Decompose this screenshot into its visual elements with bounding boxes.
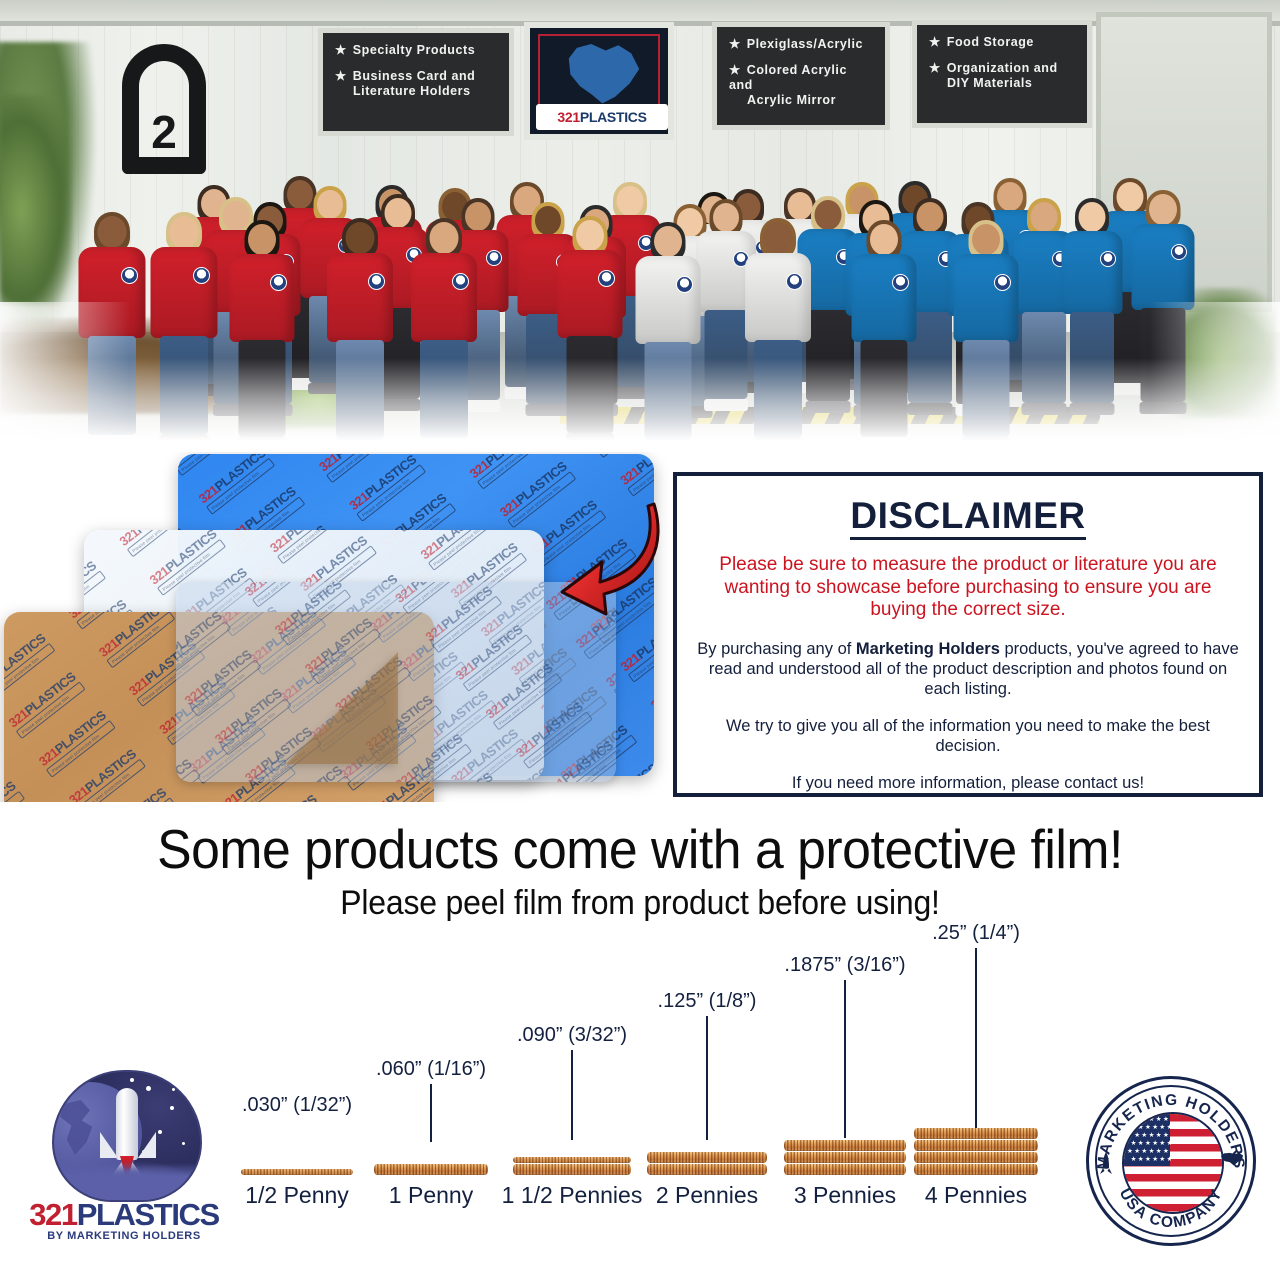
watermark-logo: 321PLASTICS xyxy=(398,799,434,802)
head xyxy=(576,220,604,251)
shirt xyxy=(230,254,295,342)
watermark-note: Please peel protective film xyxy=(627,454,654,497)
head xyxy=(430,222,459,254)
watermark-note: Please peel protective film xyxy=(553,750,616,782)
penny-count-label: 1 Penny xyxy=(389,1182,473,1208)
watermark-logo: 321PLASTICS xyxy=(178,454,237,467)
watermark-note: Please peel protective film xyxy=(176,621,231,678)
leader-line xyxy=(975,948,977,1136)
badge-top-arc: MARKETING HOLDERS xyxy=(1095,1092,1248,1170)
watermark-tag: 321PLASTICSPlease peel protective film xyxy=(4,779,25,802)
watermark-tag: 321PLASTICSPlease peel protective film xyxy=(453,623,532,692)
star-icon xyxy=(182,1142,185,1145)
penny-coin-half xyxy=(513,1157,631,1163)
watermark-tag: 321PLASTICSPlease peel protective film xyxy=(176,609,231,678)
watermark-logo: 321PLASTICS xyxy=(97,786,168,802)
head xyxy=(815,200,842,230)
penny-stack xyxy=(647,1152,767,1176)
watermark-tag: 321PLASTICSPlease peel protective film xyxy=(176,757,201,782)
leader-line xyxy=(706,1016,708,1140)
watermark-logo: 321PLASTICS xyxy=(453,623,524,683)
watermark-logo: 321PLASTICS xyxy=(268,530,339,555)
disclaimer-paragraph-4: If you need more information, please con… xyxy=(695,773,1241,793)
watermark-logo: 321PLASTICS xyxy=(514,700,585,760)
penny-count-label: 2 Pennies xyxy=(656,1182,758,1208)
watermark-tag: 321PLASTICSPlease peel protective film xyxy=(272,582,351,646)
head xyxy=(917,202,944,232)
watermark-tag: 321PLASTICSPlease peel protective film xyxy=(4,631,55,700)
shirt-logo-icon xyxy=(193,267,210,284)
watermark-note: Please peel protective film xyxy=(4,791,25,802)
watermark-note: Please peel protective film xyxy=(476,454,546,490)
penny-coin xyxy=(513,1164,631,1175)
watermark-note: Please peel protective film xyxy=(427,530,497,571)
penny-coin xyxy=(914,1128,1038,1139)
watermark-note: Please peel protective film xyxy=(402,743,472,782)
watermark-tag: 321PLASTICSPlease peel protective film xyxy=(97,612,176,669)
shirt-logo-icon xyxy=(676,276,693,293)
watermark-row: 321PLASTICSPlease peel protective film32… xyxy=(213,594,616,782)
watermark-tag: 321PLASTICSPlease peel protective film xyxy=(618,454,654,497)
rocket-scene-icon xyxy=(52,1070,202,1202)
disclaimer-heading: DISCLAIMER xyxy=(850,496,1085,540)
star-icon xyxy=(158,1130,162,1134)
logo-marketing-holders: ★★★★★★★★★★★★★★★★★★★★★★★★★★★★★★★★★★★★ MAR… xyxy=(1086,1076,1256,1246)
wordmark-prefix: 321 xyxy=(29,1197,77,1232)
logo-321-wordmark: 321PLASTICS xyxy=(28,1198,220,1232)
penny-stack xyxy=(914,1128,1038,1176)
watermark-logo: 321PLASTICS xyxy=(182,648,253,708)
watermark-logo: 321PLASTICS xyxy=(6,670,77,730)
photo-left-fade xyxy=(0,302,130,452)
head xyxy=(972,224,1000,255)
head xyxy=(713,203,739,232)
penny-coin xyxy=(914,1140,1038,1151)
shirt xyxy=(745,253,811,342)
watermark-note: Please peel protective film xyxy=(76,759,146,802)
watermark-tag: 321PLASTICSPlease peel protective film xyxy=(178,454,245,477)
head xyxy=(654,226,682,257)
watermark-logo: 321PLASTICS xyxy=(176,609,224,669)
penny-count-label: 4 Pennies xyxy=(925,1182,1027,1208)
watermark-logo: 321PLASTICS xyxy=(316,454,387,474)
penny-thickness-label: .030” (1/32”) xyxy=(242,1094,352,1116)
p2-brand: Marketing Holders xyxy=(856,640,1000,658)
shirt-logo-icon xyxy=(994,274,1011,291)
watermark-note: Please peel protective film xyxy=(126,530,196,558)
watermark-logo: 321PLASTICS xyxy=(196,454,267,506)
head xyxy=(1079,202,1106,232)
watermark-note: Please peel protective film xyxy=(178,454,245,477)
shirt-logo-icon xyxy=(452,273,469,290)
leader-line xyxy=(430,1084,432,1142)
watermark-tag: 321PLASTICSPlease peel protective film xyxy=(604,629,616,698)
watermark-note: Please peel protective film xyxy=(597,454,654,458)
head xyxy=(248,224,276,255)
watermark-logo: 321PLASTICS xyxy=(393,582,464,605)
watermark-logo: 321PLASTICS xyxy=(37,708,108,768)
logo-321-byline: BY MARKETING HOLDERS xyxy=(28,1230,220,1242)
watermark-logo: 321PLASTICS xyxy=(423,584,494,644)
shirt-logo-icon xyxy=(1100,251,1116,267)
shirt xyxy=(636,256,701,344)
shirt xyxy=(1062,231,1123,314)
disclaimer-paragraph-2: By purchasing any of Marketing Holders p… xyxy=(695,639,1241,699)
watermark-logo: 321PLASTICS xyxy=(648,653,654,713)
peeled-corner-fold xyxy=(286,652,398,764)
penny-coin xyxy=(647,1164,767,1175)
star-icon xyxy=(170,1106,174,1110)
watermark-logo: 321PLASTICS xyxy=(467,454,538,481)
penny-stack xyxy=(374,1164,488,1176)
star-icon xyxy=(146,1086,151,1091)
head xyxy=(98,216,127,248)
watermark-note: Please peel protective film xyxy=(282,775,352,782)
watermark-note: Please peel protective film xyxy=(106,612,176,669)
watermark-logo: 321PLASTICS xyxy=(618,614,654,674)
watermark-logo: 321PLASTICS xyxy=(247,792,318,802)
watermark-tag: 321PLASTICSPlease peel protective film xyxy=(182,648,261,717)
watermark-note: Please peel protective film xyxy=(46,720,116,777)
watermark-row: 321PLASTICSPlease peel protective film32… xyxy=(158,782,434,802)
head xyxy=(317,190,343,219)
watermark-note: Please peel protective film xyxy=(326,454,396,483)
watermark-tag: 321PLASTICSPlease peel protective film xyxy=(618,614,654,683)
watermark-logo: 321PLASTICS xyxy=(483,661,554,721)
leader-line xyxy=(571,1050,573,1140)
star-icon xyxy=(172,1088,175,1091)
watermark-note: Please peel protective film xyxy=(432,596,502,653)
watermark-logo: 321PLASTICS xyxy=(84,559,98,619)
penny-thickness-label: .125” (1/8”) xyxy=(658,990,757,1012)
watermark-tag: 321PLASTICSPlease peel protective film xyxy=(423,770,502,782)
watermark-logo: 321PLASTICS xyxy=(574,777,616,782)
penny-coin xyxy=(914,1152,1038,1163)
watermark-tag: 321PLASTICSPlease peel protective film xyxy=(212,686,291,755)
watermark-logo: 321PLASTICS xyxy=(117,530,188,548)
headline-block: Some products come with a protective fil… xyxy=(0,818,1280,924)
watermark-tag: 321PLASTICSPlease peel protective film xyxy=(393,732,472,782)
watermark-tag: 321PLASTICSPlease peel protective film xyxy=(423,584,502,653)
penny-thickness-label: .25” (1/4”) xyxy=(932,922,1020,944)
logo-321plastics: 321PLASTICS BY MARKETING HOLDERS xyxy=(28,1070,220,1250)
watermark-row: 321PLASTICSPlease peel protective film32… xyxy=(183,582,616,782)
watermark-tag: 321PLASTICSPlease peel protective film xyxy=(6,670,85,739)
disclaimer-paragraph-3: We try to give you all of the informatio… xyxy=(695,716,1241,756)
penny-stack xyxy=(513,1157,631,1176)
watermark-note: Please peel protective film xyxy=(4,643,55,700)
watermark-note: Please peel protective film xyxy=(397,530,467,532)
watermark-tag: 321PLASTICSPlease peel protective film xyxy=(398,799,434,802)
watermark-tag: 321PLASTICSPlease peel protective film xyxy=(273,764,352,782)
watermark-tag: 321PLASTICSPlease peel protective film xyxy=(66,612,145,630)
headline-main: Some products come with a protective fil… xyxy=(38,818,1241,880)
rocket-icon xyxy=(116,1088,138,1160)
watermark-note: Please peel protective film xyxy=(205,458,275,515)
watermark-note: Please peel protective film xyxy=(402,582,472,615)
badge-arc-text: MARKETING HOLDERS USA COMPANY xyxy=(1086,1076,1256,1246)
cloud-band xyxy=(54,1160,200,1200)
shirt xyxy=(327,253,393,342)
watermark-tag: 321PLASTICSPlease peel protective film xyxy=(648,653,654,722)
watermark-tag: 321PLASTICSPlease peel protective film xyxy=(467,454,546,490)
shirt xyxy=(558,250,623,338)
watermark-tag: 321PLASTICSPlease peel protective film xyxy=(268,530,347,564)
watermark-logo: 321PLASTICS xyxy=(4,779,18,802)
shirt-logo-icon xyxy=(1171,244,1187,260)
penny-stack xyxy=(241,1169,353,1176)
watermark-tag: 321PLASTICSPlease peel protective film xyxy=(483,661,562,730)
shirt-logo-icon xyxy=(786,273,803,290)
watermark-tag: 321PLASTICSPlease peel protective film xyxy=(347,454,426,522)
watermark-tag: 321PLASTICSPlease peel protective film xyxy=(418,530,497,571)
head xyxy=(1031,202,1058,232)
watermark-tag: 321PLASTICSPlease peel protective film xyxy=(587,454,654,458)
watermark-tag: 321PLASTICSPlease peel protective film xyxy=(247,792,326,802)
p2-pre: By purchasing any of xyxy=(697,640,856,658)
watermark-note: Please peel protective film xyxy=(613,641,616,698)
watermark-tag: 321PLASTICSPlease peel protective film xyxy=(316,454,395,483)
watermark-note: Please peel protective film xyxy=(493,673,563,730)
watermark-tag: 321PLASTICSPlease peel protective film xyxy=(67,747,146,802)
watermark-logo: 321PLASTICS xyxy=(66,612,137,621)
watermark-tag: 321PLASTICSPlease peel protective film xyxy=(514,700,593,769)
watermark-note: Please peel protective film xyxy=(252,582,322,608)
photo-right-fade xyxy=(1150,302,1280,452)
shirt-logo-icon xyxy=(486,250,502,266)
watermark-note: Please peel protective film xyxy=(277,530,347,564)
watermark-logo: 321PLASTICS xyxy=(272,582,343,637)
photo-bottom-fade xyxy=(0,358,1280,452)
watermark-logo: 321PLASTICS xyxy=(147,530,218,587)
watermark-note: Please peel protective film xyxy=(191,660,261,717)
watermark-tag: 321PLASTICSPlease peel protective film xyxy=(544,738,616,782)
penny-coin xyxy=(374,1164,488,1175)
watermark-note: Please peel protective film xyxy=(356,465,426,522)
badge-bottom-arc: USA COMPANY xyxy=(1116,1186,1226,1231)
penny-count-label: 3 Pennies xyxy=(794,1182,896,1208)
rocket-fin-right xyxy=(138,1132,156,1158)
penny-coin xyxy=(914,1164,1038,1175)
watermark-tag: 321PLASTICSPlease peel protective film xyxy=(97,786,176,802)
watermark-note: Please peel protective film xyxy=(523,712,593,769)
watermark-logo: 321PLASTICS xyxy=(4,631,48,691)
shirt-logo-icon xyxy=(270,274,287,291)
penny-coin-half xyxy=(241,1169,353,1175)
watermark-note: Please peel protective film xyxy=(222,698,292,755)
head xyxy=(346,222,375,254)
watermark-tag: 321PLASTICSPlease peel protective film xyxy=(196,454,275,515)
penny-coin xyxy=(647,1152,767,1163)
watermark-logo: 321PLASTICS xyxy=(618,454,654,487)
shirt-logo-icon xyxy=(121,267,138,284)
shirt-logo-icon xyxy=(892,274,909,291)
watermark-logo: 321PLASTICS xyxy=(67,747,138,802)
watermark-note: Please peel protective film xyxy=(76,612,146,630)
head xyxy=(1149,194,1177,225)
watermark-logo: 321PLASTICS xyxy=(97,612,168,659)
watermark-tag: 321PLASTICSPlease peel protective film xyxy=(574,777,616,782)
infographic-page: 2 ★Specialty Products ★Business Card and… xyxy=(0,0,1280,1280)
watermark-logo: 321PLASTICS xyxy=(347,454,418,513)
watermark-tag: 321PLASTICSPlease peel protective film xyxy=(388,530,467,532)
leader-line xyxy=(844,980,846,1138)
watermark-tag: 321PLASTICSPlease peel protective film xyxy=(37,708,116,777)
shirt xyxy=(1132,224,1195,310)
head xyxy=(870,224,898,255)
watermark-logo: 321PLASTICS xyxy=(418,530,489,562)
watermark-tag: 321PLASTICSPlease peel protective film xyxy=(393,582,472,615)
headline-sub: Please peel film from product before usi… xyxy=(38,882,1241,924)
watermark-logo: 321PLASTICS xyxy=(544,738,615,782)
watermark-logo: 321PLASTICS xyxy=(273,764,344,782)
watermark-logo: 321PLASTICS xyxy=(604,629,616,689)
shirt xyxy=(411,253,477,342)
penny-thickness-label: .090” (3/32”) xyxy=(517,1024,627,1046)
watermark-logo: 321PLASTICS xyxy=(212,686,283,746)
head xyxy=(764,222,793,254)
shirt xyxy=(852,254,917,342)
watermark-note: Please peel protective film xyxy=(462,634,532,691)
watermark-note: Please peel protective film xyxy=(16,682,86,739)
watermark-logo: 321PLASTICS xyxy=(242,582,313,598)
shirt xyxy=(954,254,1019,342)
shirt xyxy=(151,247,218,338)
watermark-note: Please peel protective film xyxy=(106,798,176,802)
disclaimer-red-text: Please be sure to measure the product or… xyxy=(695,554,1241,622)
peel-arrow-icon xyxy=(556,496,666,616)
shirt-logo-icon xyxy=(598,270,615,287)
star-icon xyxy=(130,1078,134,1082)
shirt-logo-icon xyxy=(368,273,385,290)
disclaimer-box: DISCLAIMER Please be sure to measure the… xyxy=(673,472,1263,797)
watermark-tag: 321PLASTICSPlease peel protective film xyxy=(117,530,196,558)
penny-count-label: 1/2 Penny xyxy=(245,1182,349,1208)
head xyxy=(170,216,199,248)
watermark-logo: 321PLASTICS xyxy=(423,770,494,782)
penny-column: .25” (1/4”)4 Pennies xyxy=(886,962,1066,1212)
watermark-note: Please peel protective film xyxy=(282,589,352,646)
watermark-logo: 321PLASTICS xyxy=(393,732,464,782)
wordmark-suffix: PLASTICS xyxy=(77,1197,219,1232)
watermark-tag: 321PLASTICSPlease peel protective film xyxy=(242,582,321,608)
team-photo: 2 ★Specialty Products ★Business Card and… xyxy=(0,0,1280,452)
penny-thickness-label: .060” (1/16”) xyxy=(376,1058,486,1080)
watermark-note: Please peel protective film xyxy=(627,626,654,683)
